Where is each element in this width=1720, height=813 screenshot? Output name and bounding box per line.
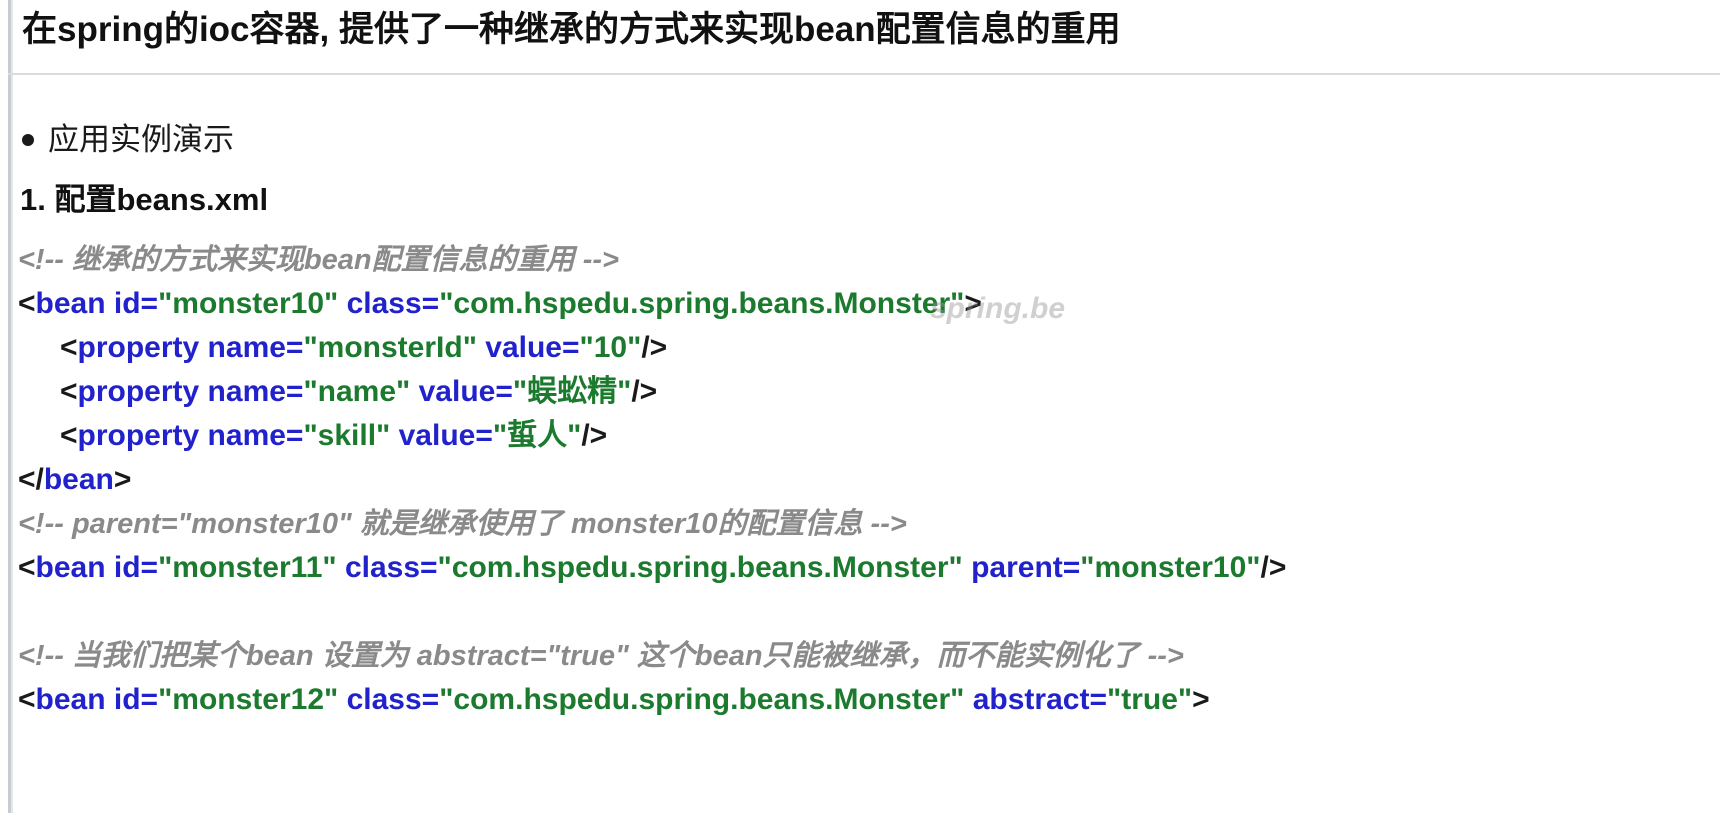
tag-bracket-close: > — [114, 463, 132, 496]
tag-attribute-name: abstract= — [964, 683, 1107, 716]
tag-attribute-name: class= — [337, 551, 438, 584]
section-heading-1: 1. 配置beans.xml — [20, 181, 268, 219]
tag-attribute-name: id= — [106, 551, 159, 584]
tag-attribute-value: "蜇人" — [493, 419, 581, 452]
tag-bracket-open: < — [18, 683, 36, 716]
tag-element-name: property — [78, 331, 200, 364]
tag-attribute-value: "com.hspedu.spring.beans.Monster" — [439, 683, 964, 716]
bullet-list-item: 应用实例演示 — [22, 122, 234, 158]
tag-element-name: property — [78, 419, 200, 452]
tag-attribute-value: "com.hspedu.spring.beans.Monster" — [438, 551, 963, 584]
tag-attribute-value: "skill" — [303, 419, 390, 452]
code-block: <!-- 继承的方式来实现bean配置信息的重用 --><bean id="mo… — [18, 238, 1718, 722]
tag-attribute-name: class= — [338, 683, 439, 716]
tag-attribute-name: name= — [199, 419, 303, 452]
code-line: <property name="name" value="蜈蚣精"/> — [18, 370, 1718, 414]
code-line: <property name="skill" value="蜇人"/> — [18, 414, 1718, 458]
code-line: </bean> — [18, 458, 1718, 502]
tag-bracket-close: /> — [1260, 551, 1286, 584]
tag-attribute-value: "monsterId" — [303, 331, 476, 364]
tag-attribute-value: "name" — [303, 375, 410, 408]
tag-bracket-open: < — [60, 375, 78, 408]
tag-bracket-open: < — [18, 287, 36, 320]
code-line: <bean id="monster10" class="com.hspedu.s… — [18, 282, 1718, 326]
tag-bracket-close: /> — [631, 375, 657, 408]
tag-element-name: bean — [36, 287, 106, 320]
tag-attribute-name: parent= — [963, 551, 1081, 584]
document-page: 在spring的ioc容器, 提供了一种继承的方式来实现bean配置信息的重用 … — [0, 0, 1720, 813]
code-line: <bean id="monster11" class="com.hspedu.s… — [18, 546, 1718, 590]
tag-attribute-name: id= — [106, 287, 159, 320]
tag-bracket-open: < — [60, 419, 78, 452]
code-comment: <!-- 当我们把某个bean 设置为 abstract="true" 这个be… — [18, 640, 1184, 672]
tag-attribute-value: "true" — [1107, 683, 1192, 716]
tag-attribute-name: value= — [390, 419, 493, 452]
code-line: <!-- 继承的方式来实现bean配置信息的重用 --> — [18, 238, 1718, 282]
tag-element-name: bean — [44, 463, 114, 496]
tag-attribute-value: "monster10" — [1080, 551, 1260, 584]
tag-bracket-open: < — [60, 331, 78, 364]
tag-attribute-name: id= — [106, 683, 159, 716]
bullet-item-label: 应用实例演示 — [48, 122, 234, 158]
tag-bracket-close: > — [1192, 683, 1210, 716]
tag-attribute-value: "monster12" — [158, 683, 338, 716]
tag-bracket-open: </ — [18, 463, 44, 496]
tag-attribute-name: value= — [477, 331, 580, 364]
tag-attribute-value: "monster11" — [158, 551, 337, 584]
tag-attribute-value: "10" — [580, 331, 642, 364]
tag-bracket-close: /> — [581, 419, 607, 452]
title-divider — [8, 73, 1720, 75]
code-comment: <!-- 继承的方式来实现bean配置信息的重用 --> — [18, 244, 619, 276]
tag-bracket-close: /> — [641, 331, 667, 364]
tag-element-name: bean — [36, 551, 106, 584]
code-line — [18, 590, 1718, 634]
tag-element-name: bean — [36, 683, 106, 716]
page-left-edge-rule-secondary — [11, 0, 13, 813]
tag-attribute-name: name= — [199, 331, 303, 364]
code-line: <!-- parent="monster10" 就是继承使用了 monster1… — [18, 502, 1718, 546]
tag-attribute-name: name= — [199, 375, 303, 408]
tag-attribute-name: class= — [338, 287, 439, 320]
code-line: <bean id="monster12" class="com.hspedu.s… — [18, 678, 1718, 722]
tag-attribute-value: "com.hspedu.spring.beans.Monster" — [439, 287, 964, 320]
page-title: 在spring的ioc容器, 提供了一种继承的方式来实现bean配置信息的重用 — [22, 6, 1121, 54]
bullet-point-icon — [22, 134, 34, 146]
tag-bracket-open: < — [18, 551, 36, 584]
tag-attribute-name: value= — [410, 375, 513, 408]
tag-attribute-value: "蜈蚣精" — [513, 375, 631, 408]
tag-element-name: property — [78, 375, 200, 408]
tag-bracket-close: > — [964, 287, 982, 320]
code-line: <!-- 当我们把某个bean 设置为 abstract="true" 这个be… — [18, 634, 1718, 678]
tag-attribute-value: "monster10" — [158, 287, 338, 320]
code-comment: <!-- parent="monster10" 就是继承使用了 monster1… — [18, 508, 907, 540]
code-line: <property name="monsterId" value="10"/> — [18, 326, 1718, 370]
